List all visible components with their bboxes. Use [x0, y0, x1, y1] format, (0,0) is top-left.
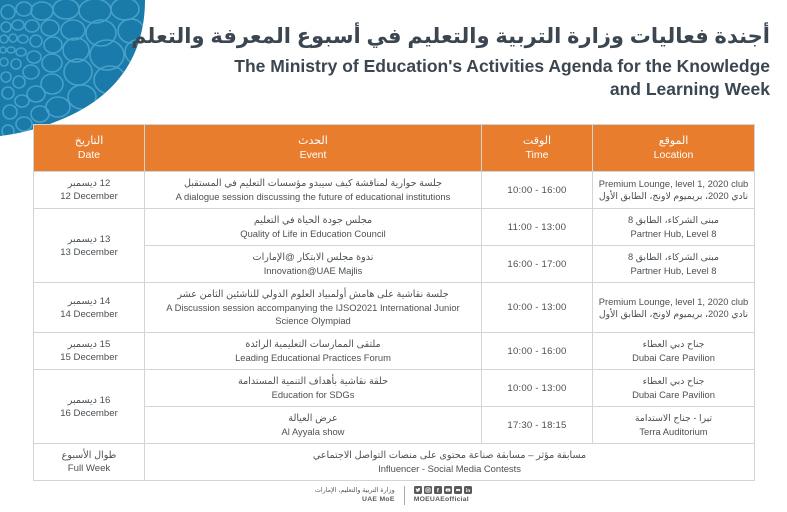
location-ar: مبنى الشركاء، الطابق 8: [597, 251, 750, 264]
title-english: The Ministry of Education's Activities A…: [180, 55, 770, 101]
location-en: Dubai Care Pavilion: [597, 351, 750, 364]
table-header: التاريخ Date الحدث Event الوقت Time المو…: [34, 125, 755, 172]
cell-event: حلقة نقاشية بأهداف التنمية المستدامةEduc…: [145, 370, 482, 407]
column-header-date: التاريخ Date: [34, 125, 145, 172]
title-english-line1: The Ministry of Education's Activities A…: [180, 55, 770, 78]
cell-date: 12 ديسمبر12 December: [34, 172, 145, 209]
time-value: 10:00 - 16:00: [486, 184, 588, 197]
cell-location: Premium Lounge, level 1, 2020 clubنادي 2…: [593, 172, 755, 209]
date-en: Full Week: [38, 462, 140, 475]
cell-time: 17:30 - 18:15: [482, 407, 593, 444]
column-header-location-en: Location: [593, 148, 754, 162]
event-ar: ندوة مجلس الابتكار @الإمارات: [149, 251, 477, 264]
table-header-row: التاريخ Date الحدث Event الوقت Time المو…: [34, 125, 755, 172]
cell-time: 10:00 - 13:00: [482, 283, 593, 333]
cell-date: 13 ديسمبر13 December: [34, 209, 145, 283]
footer-divider: [404, 486, 405, 505]
location-en: Partner Hub, Level 8: [597, 227, 750, 240]
event-en: Influencer - Social Media Contests: [149, 462, 750, 475]
cell-event: جلسة نقاشية على هامش أولمبياد العلوم الد…: [145, 283, 482, 333]
cell-event: مسابقة مؤثر – مسابقة صناعة محتوى على منص…: [145, 444, 755, 481]
date-ar: طوال الأسبوع: [38, 449, 140, 462]
location-en: Premium Lounge, level 1, 2020 club: [597, 177, 750, 190]
location-en: Premium Lounge, level 1, 2020 club: [597, 295, 750, 308]
cell-time: 10:00 - 16:00: [482, 333, 593, 370]
date-ar: 13 ديسمبر: [38, 233, 140, 246]
ministry-logo-text: وزارة التربية والتعليم، الإمارات UAE MoE: [315, 486, 395, 504]
cell-location: Premium Lounge, level 1, 2020 clubنادي 2…: [593, 283, 755, 333]
cell-time: 10:00 - 16:00: [482, 172, 593, 209]
event-ar: مسابقة مؤثر – مسابقة صناعة محتوى على منص…: [149, 449, 750, 462]
event-en: A Discussion session accompanying the IJ…: [149, 301, 477, 327]
time-value: 10:00 - 13:00: [486, 382, 588, 395]
cell-event: عرض العيالةAl Ayyala show: [145, 407, 482, 444]
event-en: Quality of Life in Education Council: [149, 227, 477, 240]
table-row: 13 ديسمبر13 Decemberمجلس جودة الحياة في …: [34, 209, 755, 246]
linkedin-icon[interactable]: [464, 486, 473, 495]
cell-date: 15 ديسمبر15 December: [34, 333, 145, 370]
column-header-location-ar: الموقع: [593, 134, 754, 148]
table-body: 12 ديسمبر12 Decemberجلسة حوارية لمناقشة …: [34, 172, 755, 481]
date-en: 16 December: [38, 407, 140, 420]
social-block: MOEUAEofficial: [414, 486, 473, 505]
column-header-date-ar: التاريخ: [34, 134, 144, 148]
date-ar: 12 ديسمبر: [38, 177, 140, 190]
date-en: 12 December: [38, 190, 140, 203]
date-en: 14 December: [38, 308, 140, 321]
time-value: 10:00 - 13:00: [486, 301, 588, 314]
column-header-time: الوقت Time: [482, 125, 593, 172]
instagram-icon[interactable]: [424, 486, 433, 495]
table-row: 15 ديسمبر15 Decemberملتقى الممارسات التع…: [34, 333, 755, 370]
twitter-icon[interactable]: [414, 486, 423, 495]
page-title: أجندة فعاليات وزارة التربية والتعليم في …: [180, 22, 770, 101]
event-en: Al Ayyala show: [149, 425, 477, 438]
location-ar: جناح دبي العطاء: [597, 375, 750, 388]
ministry-name-en: UAE MoE: [315, 495, 395, 504]
date-ar: 15 ديسمبر: [38, 338, 140, 351]
bubble-pattern-graphic: [0, 0, 200, 140]
column-header-event-en: Event: [145, 148, 481, 162]
cell-date: 16 ديسمبر16 December: [34, 370, 145, 444]
decorative-blue-blob: [0, 0, 200, 140]
date-ar: 16 ديسمبر: [38, 394, 140, 407]
agenda-table: التاريخ Date الحدث Event الوقت Time المو…: [33, 124, 755, 481]
time-value: 16:00 - 17:00: [486, 258, 588, 271]
column-header-time-ar: الوقت: [482, 134, 592, 148]
social-icon-row: [414, 486, 473, 495]
facebook-icon[interactable]: [434, 486, 443, 495]
event-en: Leading Educational Practices Forum: [149, 351, 477, 364]
cell-time: 11:00 - 13:00: [482, 209, 593, 246]
column-header-event-ar: الحدث: [145, 134, 481, 148]
location-ar: مبنى الشركاء، الطابق 8: [597, 214, 750, 227]
cell-event: جلسة حوارية لمناقشة كيف سيبدو مؤسسات الت…: [145, 172, 482, 209]
event-ar: جلسة نقاشية على هامش أولمبياد العلوم الد…: [149, 288, 477, 301]
cell-time: 10:00 - 13:00: [482, 370, 593, 407]
time-value: 10:00 - 16:00: [486, 345, 588, 358]
location-ar: نادي 2020، بريميوم لاونج، الطابق الأول: [597, 190, 750, 203]
column-header-date-en: Date: [34, 148, 144, 162]
cell-location: جناح دبي العطاءDubai Care Pavilion: [593, 370, 755, 407]
table-row-full-week: طوال الأسبوعFull Weekمسابقة مؤثر – مسابق…: [34, 444, 755, 481]
date-ar: 14 ديسمبر: [38, 295, 140, 308]
event-ar: عرض العيالة: [149, 412, 477, 425]
cell-location: مبنى الشركاء، الطابق 8Partner Hub, Level…: [593, 246, 755, 283]
cell-event: ملتقى الممارسات التعليمية الرائدةLeading…: [145, 333, 482, 370]
title-english-line2: and Learning Week: [180, 78, 770, 101]
cell-location: جناح دبي العطاءDubai Care Pavilion: [593, 333, 755, 370]
location-en: Terra Auditorium: [597, 425, 750, 438]
cell-date: طوال الأسبوعFull Week: [34, 444, 145, 481]
location-ar: تيرا - جناح الاستدامة: [597, 412, 750, 425]
location-ar: نادي 2020، بريميوم لاونج، الطابق الأول: [597, 308, 750, 321]
cell-time: 16:00 - 17:00: [482, 246, 593, 283]
event-ar: جلسة حوارية لمناقشة كيف سيبدو مؤسسات الت…: [149, 177, 477, 190]
location-ar: جناح دبي العطاء: [597, 338, 750, 351]
event-en: Education for SDGs: [149, 388, 477, 401]
event-ar: مجلس جودة الحياة في التعليم: [149, 214, 477, 227]
event-en: Innovation@UAE Majlis: [149, 264, 477, 277]
flickr-icon[interactable]: [454, 486, 463, 495]
table-row: 16 ديسمبر16 Decemberحلقة نقاشية بأهداف ا…: [34, 370, 755, 407]
location-en: Partner Hub, Level 8: [597, 264, 750, 277]
event-en: A dialogue session discussing the future…: [149, 190, 477, 203]
youtube-icon[interactable]: [444, 486, 453, 495]
date-en: 13 December: [38, 246, 140, 259]
cell-location: مبنى الشركاء، الطابق 8Partner Hub, Level…: [593, 209, 755, 246]
agenda-poster: أجندة فعاليات وزارة التربية والتعليم في …: [0, 0, 787, 512]
cell-date: 14 ديسمبر14 December: [34, 283, 145, 333]
column-header-location: الموقع Location: [593, 125, 755, 172]
time-value: 17:30 - 18:15: [486, 419, 588, 432]
title-arabic: أجندة فعاليات وزارة التربية والتعليم في …: [180, 22, 770, 52]
cell-event: ندوة مجلس الابتكار @الإماراتInnovation@U…: [145, 246, 482, 283]
cell-event: مجلس جودة الحياة في التعليمQuality of Li…: [145, 209, 482, 246]
social-handle: MOEUAEofficial: [414, 495, 469, 504]
date-en: 15 December: [38, 351, 140, 364]
column-header-time-en: Time: [482, 148, 592, 162]
cell-location: تيرا - جناح الاستدامةTerra Auditorium: [593, 407, 755, 444]
table-row: 14 ديسمبر14 Decemberجلسة نقاشية على هامش…: [34, 283, 755, 333]
column-header-event: الحدث Event: [145, 125, 482, 172]
location-en: Dubai Care Pavilion: [597, 388, 750, 401]
ministry-name-ar: وزارة التربية والتعليم، الإمارات: [315, 486, 395, 495]
event-ar: حلقة نقاشية بأهداف التنمية المستدامة: [149, 375, 477, 388]
time-value: 11:00 - 13:00: [486, 221, 588, 234]
footer: وزارة التربية والتعليم، الإمارات UAE MoE: [0, 478, 787, 512]
event-ar: ملتقى الممارسات التعليمية الرائدة: [149, 338, 477, 351]
table-row: 12 ديسمبر12 Decemberجلسة حوارية لمناقشة …: [34, 172, 755, 209]
